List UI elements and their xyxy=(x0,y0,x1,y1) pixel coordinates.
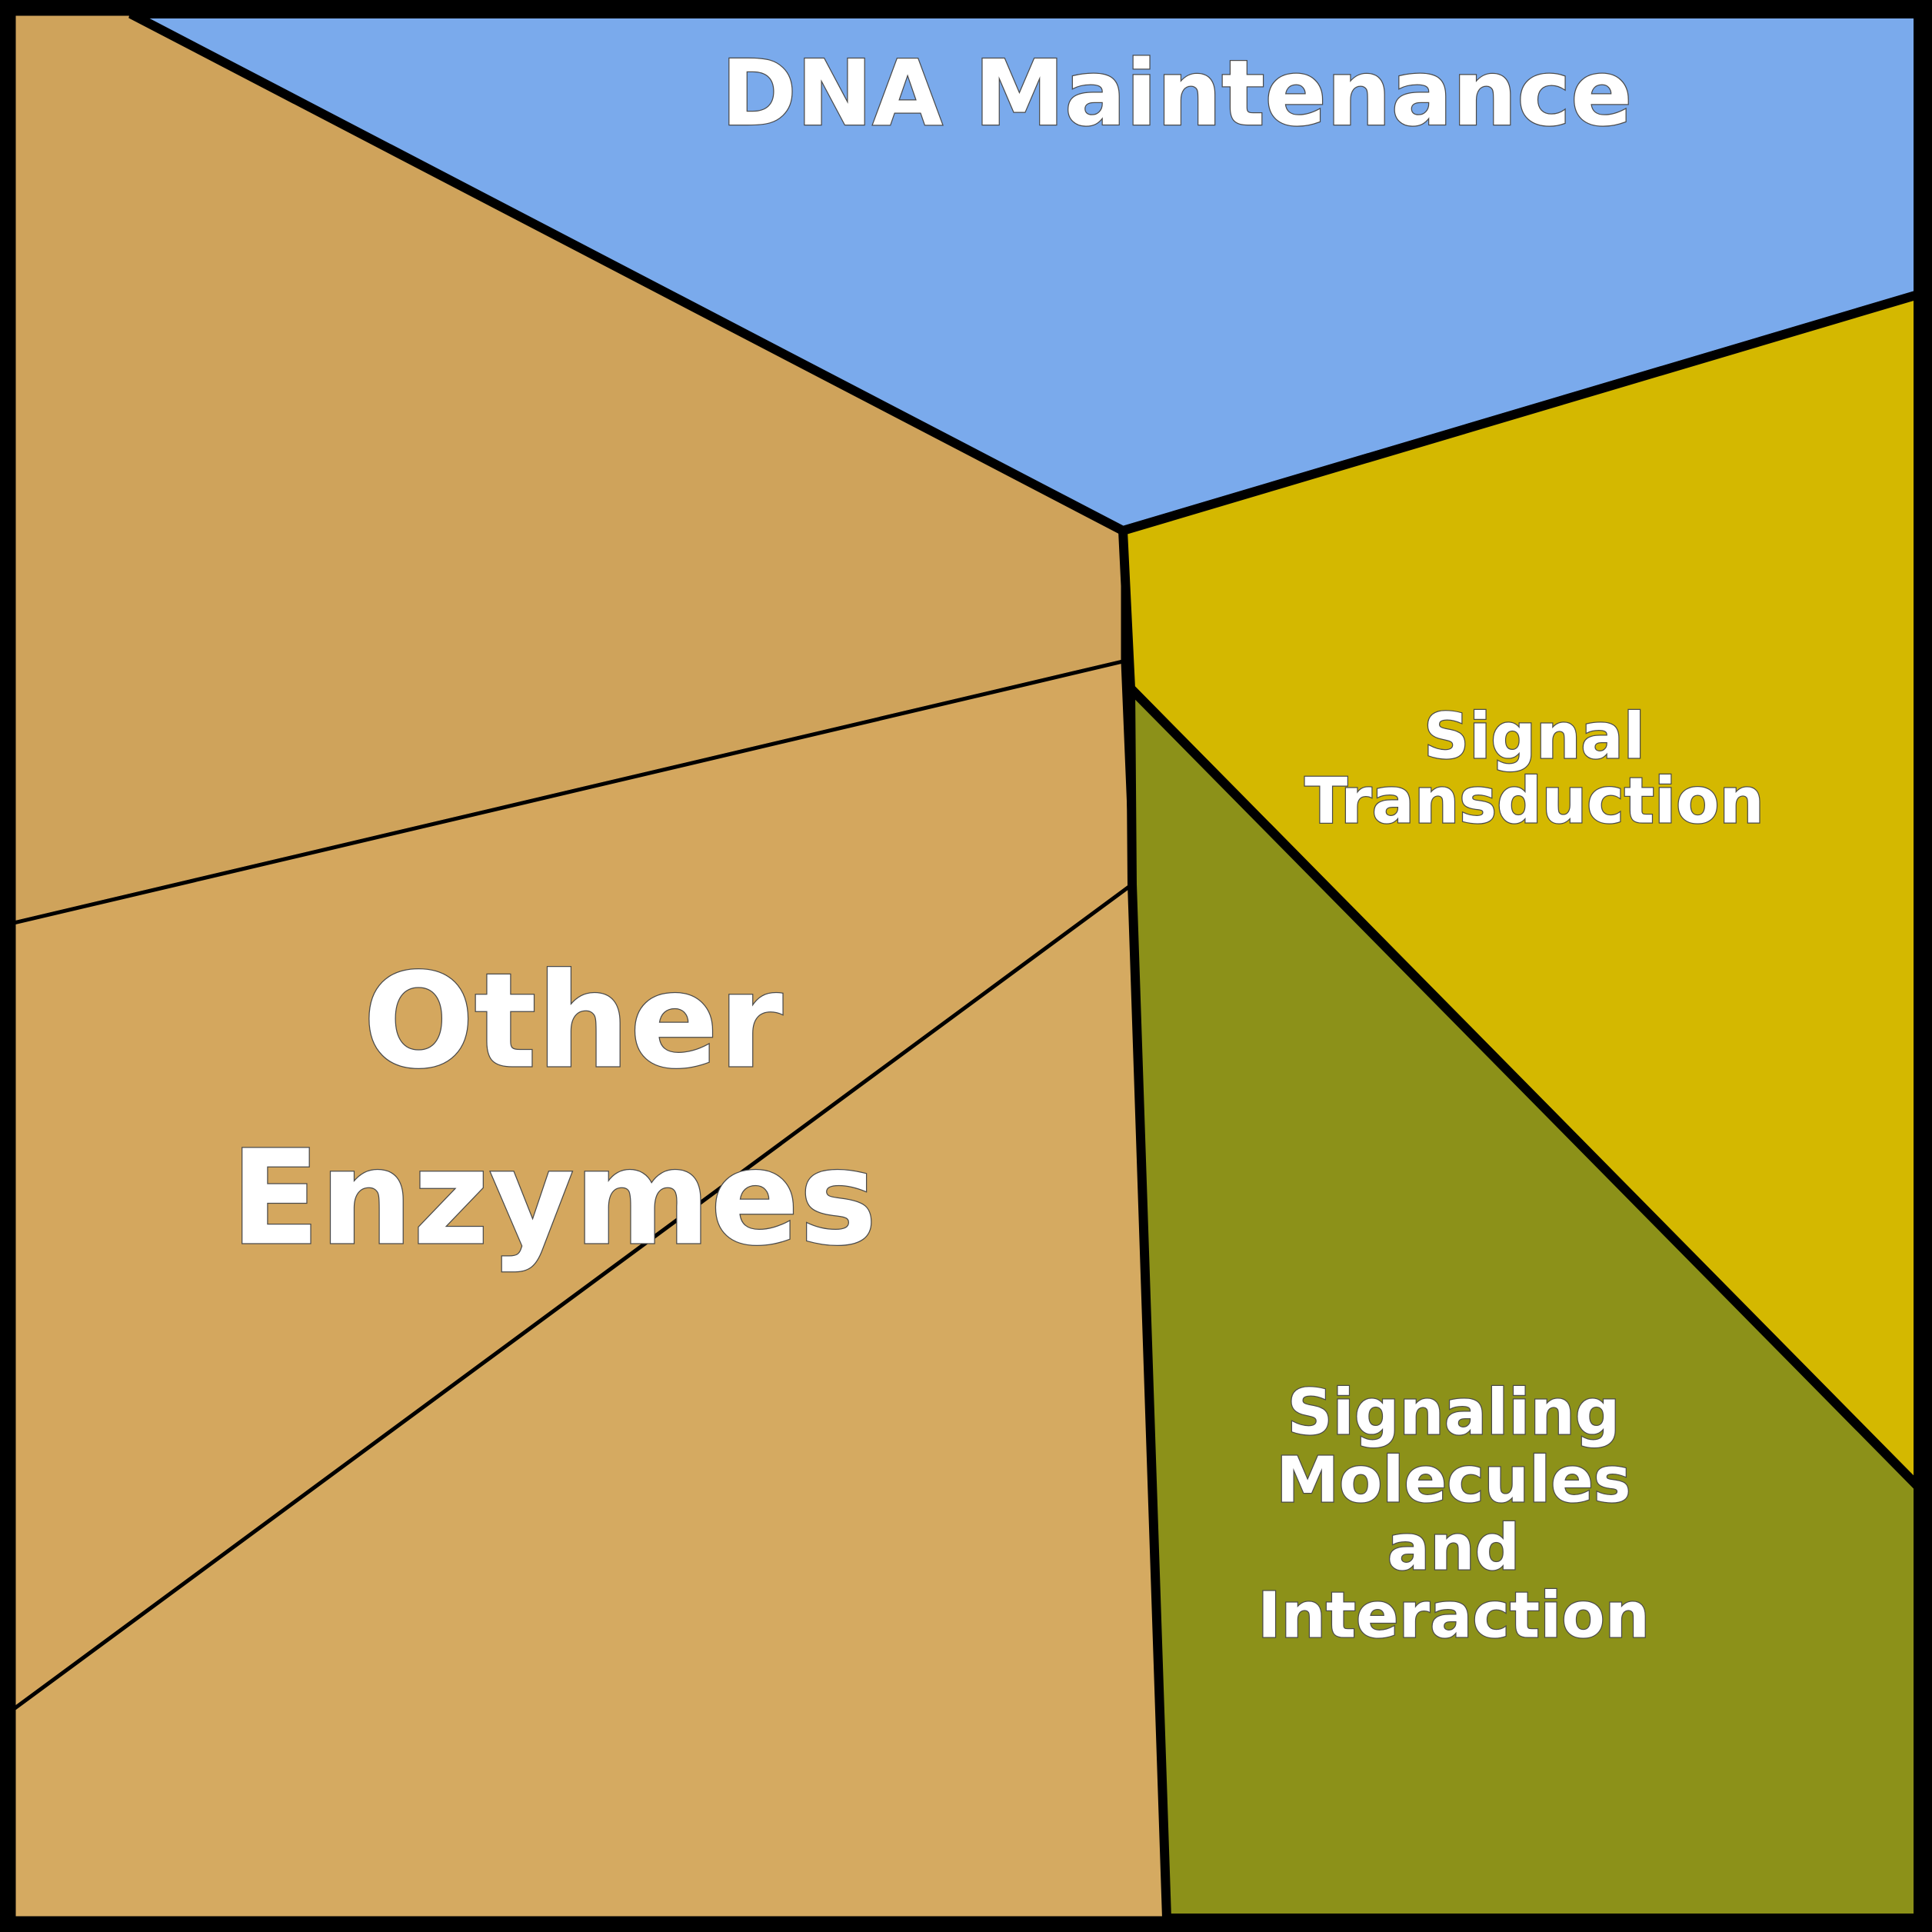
figure-canvas: DNA Maintenance Signal Transduction Sign… xyxy=(0,0,1932,1932)
label-line-dna-0: DNA Maintenance xyxy=(721,40,1633,146)
cell-label-dna-maintenance: DNA Maintenance xyxy=(721,40,1633,146)
label-line-sigmol-2: and xyxy=(1387,1511,1520,1584)
label-line-sigmol-3: Interaction xyxy=(1257,1579,1650,1652)
voronoi-treemap: DNA Maintenance Signal Transduction Sign… xyxy=(0,0,1932,1932)
label-line-sigmol-0: Signaling xyxy=(1287,1376,1621,1449)
label-line-sigmol-1: Molecules xyxy=(1276,1444,1631,1517)
label-line-other-0: Other xyxy=(363,945,783,1098)
cell-label-signaling-molecules: Signaling Molecules and Interaction xyxy=(1257,1376,1650,1652)
label-line-signal-1: Transduction xyxy=(1304,764,1764,838)
label-line-signal-0: Signal xyxy=(1424,700,1645,773)
label-line-other-1: Enzymes xyxy=(231,1122,878,1274)
